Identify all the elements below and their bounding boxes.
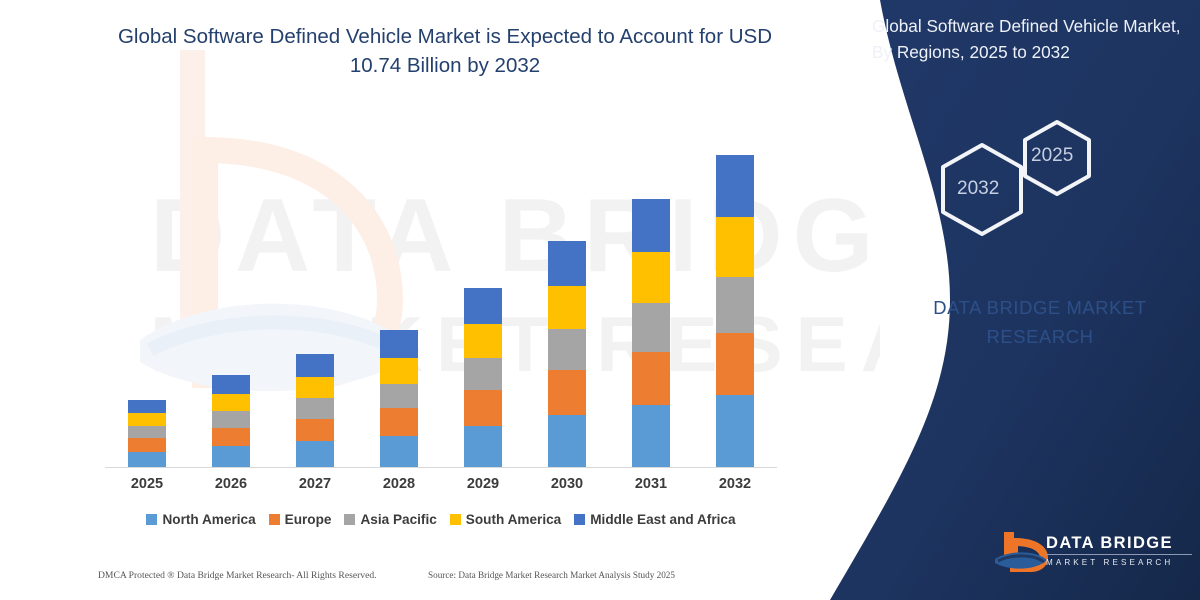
bar-segment-europe — [464, 390, 502, 426]
hexagon-outlines-icon — [925, 112, 1125, 252]
hex-badge-2032-label: 2032 — [957, 178, 999, 200]
hexagon-badge-group: 2025 2032 — [925, 112, 1125, 252]
bar-column-2032 — [693, 120, 777, 467]
stacked-bar — [296, 354, 334, 467]
stacked-bar — [380, 330, 418, 467]
bar-segment-middle-east-and-africa — [380, 330, 418, 358]
legend-label: Asia Pacific — [360, 512, 436, 527]
right-panel-brand-line1: DATA BRIDGE MARKET — [890, 294, 1190, 323]
bar-column-2026 — [189, 120, 273, 467]
bar-segment-north-america — [716, 395, 754, 467]
legend-label: North America — [162, 512, 255, 527]
bar-segment-asia-pacific — [212, 411, 250, 428]
x-axis-tick-labels: 20252026202720282029203020312032 — [105, 476, 777, 492]
bar-segment-europe — [296, 419, 334, 442]
bar-segment-europe — [548, 370, 586, 415]
bar-column-2025 — [105, 120, 189, 467]
page-title: Global Software Defined Vehicle Market i… — [105, 22, 785, 80]
legend-item-south-america[interactable]: South America — [450, 512, 561, 527]
bar-segment-middle-east-and-africa — [212, 375, 250, 394]
bar-segment-europe — [128, 438, 166, 451]
chart-plot-area — [105, 120, 777, 467]
x-tick-label-2029: 2029 — [441, 476, 525, 492]
stacked-bar — [128, 400, 166, 467]
logo-sub-text: MARKET RESEARCH — [1046, 558, 1196, 567]
x-tick-label-2026: 2026 — [189, 476, 273, 492]
logo-text-block: DATA BRIDGE MARKET RESEARCH — [1046, 534, 1196, 567]
bar-segment-asia-pacific — [632, 303, 670, 351]
bar-column-2029 — [441, 120, 525, 467]
bar-segment-north-america — [380, 436, 418, 467]
x-tick-label-2030: 2030 — [525, 476, 609, 492]
bar-segment-south-america — [128, 413, 166, 426]
bar-segment-south-america — [464, 324, 502, 358]
bar-segment-asia-pacific — [716, 277, 754, 333]
chart-panel: DATA BRIDGE MARKET RESEARCH Global Softw… — [0, 0, 880, 600]
bar-segment-asia-pacific — [548, 329, 586, 370]
legend-swatch-icon — [269, 514, 280, 525]
bar-column-2028 — [357, 120, 441, 467]
bar-segment-north-america — [296, 441, 334, 467]
bar-segment-middle-east-and-africa — [716, 155, 754, 217]
x-tick-label-2032: 2032 — [693, 476, 777, 492]
stacked-bar — [464, 288, 502, 467]
bar-segment-middle-east-and-africa — [128, 400, 166, 413]
legend-swatch-icon — [146, 514, 157, 525]
x-tick-label-2031: 2031 — [609, 476, 693, 492]
bar-segment-europe — [632, 352, 670, 406]
bar-segment-middle-east-and-africa — [548, 241, 586, 286]
legend-item-north-america[interactable]: North America — [146, 512, 255, 527]
bar-segment-north-america — [548, 415, 586, 467]
chart-legend: North AmericaEuropeAsia PacificSouth Ame… — [105, 512, 777, 527]
legend-swatch-icon — [574, 514, 585, 525]
stacked-bar — [716, 155, 754, 467]
legend-swatch-icon — [344, 514, 355, 525]
bar-segment-south-america — [296, 377, 334, 399]
right-panel-title: Global Software Defined Vehicle Market, … — [872, 14, 1182, 66]
legend-item-asia-pacific[interactable]: Asia Pacific — [344, 512, 436, 527]
bar-segment-asia-pacific — [464, 358, 502, 390]
bar-segment-europe — [380, 408, 418, 435]
bar-segment-south-america — [548, 286, 586, 329]
stacked-bar — [212, 375, 250, 467]
bar-segment-asia-pacific — [296, 398, 334, 418]
bar-segment-middle-east-and-africa — [296, 354, 334, 377]
market-report-infographic: DATA BRIDGE MARKET RESEARCH Global Softw… — [0, 0, 1200, 600]
hex-badge-2025-label: 2025 — [1031, 145, 1073, 167]
legend-swatch-icon — [450, 514, 461, 525]
bar-segment-asia-pacific — [128, 426, 166, 438]
bar-segment-south-america — [716, 217, 754, 276]
legend-item-europe[interactable]: Europe — [269, 512, 332, 527]
legend-label: Europe — [285, 512, 332, 527]
x-axis-line — [105, 467, 777, 468]
stacked-bar — [632, 199, 670, 467]
source-footer-text: Source: Data Bridge Market Research Mark… — [428, 570, 675, 580]
bar-segment-europe — [212, 428, 250, 446]
bar-segment-south-america — [632, 252, 670, 303]
bar-segment-europe — [716, 333, 754, 395]
legend-label: Middle East and Africa — [590, 512, 735, 527]
bar-segment-north-america — [128, 452, 166, 467]
legend-item-middle-east-and-africa[interactable]: Middle East and Africa — [574, 512, 735, 527]
bar-segment-middle-east-and-africa — [632, 199, 670, 252]
bar-segment-north-america — [632, 405, 670, 467]
stacked-bar — [548, 241, 586, 467]
bar-column-2027 — [273, 120, 357, 467]
x-tick-label-2027: 2027 — [273, 476, 357, 492]
logo-divider — [1046, 554, 1192, 555]
bar-segment-south-america — [380, 358, 418, 384]
dmca-footer-text: DMCA Protected ® Data Bridge Market Rese… — [98, 570, 377, 581]
logo-main-text: DATA BRIDGE — [1046, 534, 1196, 553]
x-tick-label-2028: 2028 — [357, 476, 441, 492]
bar-segment-south-america — [212, 394, 250, 411]
right-panel-brand-text: DATA BRIDGE MARKET RESEARCH — [890, 294, 1190, 351]
bar-column-2030 — [525, 120, 609, 467]
right-panel-brand-line2: RESEARCH — [890, 323, 1190, 352]
bar-segment-north-america — [212, 446, 250, 467]
legend-label: South America — [466, 512, 561, 527]
bar-column-2031 — [609, 120, 693, 467]
bar-segment-asia-pacific — [380, 384, 418, 409]
bar-segment-middle-east-and-africa — [464, 288, 502, 324]
x-tick-label-2025: 2025 — [105, 476, 189, 492]
bar-segment-north-america — [464, 426, 502, 467]
